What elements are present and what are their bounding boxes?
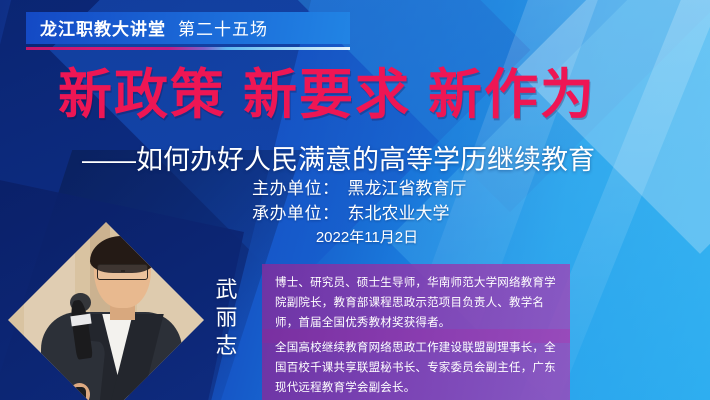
speaker-photo [8, 222, 204, 400]
event-date: 2022年11月2日 [252, 226, 482, 247]
background-facet-pale-right [516, 0, 710, 254]
page-subtitle: ——如何办好人民满意的高等学历继续教育 [82, 138, 595, 177]
organizer-row-undertaker: 承办单位：东北农业大学 [252, 201, 532, 226]
speaker-bio-box-2: 全国高校继续教育网络思政工作建设联盟副理事长，全国百校千课共享联盟秘书长、专家委… [262, 329, 570, 400]
organizer-row-host: 主办单位：黑龙江省教育厅 [252, 176, 532, 201]
header-banner-box: 龙江职教大讲堂 第二十五场 [26, 12, 350, 44]
organizer-value-host: 黑龙江省教育厅 [348, 179, 467, 198]
header-banner-rule [26, 47, 350, 50]
speaker-name-char-3: 志 [214, 332, 240, 360]
speaker-bio-text-2: 全国高校继续教育网络思政工作建设联盟副理事长，全国百校千课共享联盟秘书长、专家委… [275, 338, 557, 398]
presentation-clicker-icon [73, 387, 87, 400]
speaker-name: 武 丽 志 [214, 276, 240, 360]
organizer-block: 主办单位：黑龙江省教育厅 承办单位：东北农业大学 [252, 176, 532, 226]
speaker-name-char-2: 丽 [214, 304, 240, 332]
page-title: 新政策 新要求 新作为 [58, 68, 596, 122]
speaker-name-char-1: 武 [214, 276, 240, 304]
organizer-value-undertaker: 东北农业大学 [348, 204, 450, 223]
series-title: 龙江职教大讲堂 [40, 15, 166, 40]
organizer-label-host: 主办单位： [252, 179, 340, 198]
speaker-bio-text-1: 博士、研究员、硕士生导师，华南师范大学网络教育学院副院长，教育部课程思政示范项目… [275, 273, 557, 333]
header-banner: 龙江职教大讲堂 第二十五场 [26, 12, 350, 50]
photo-person [8, 222, 204, 400]
glasses-icon [97, 264, 148, 280]
poster-canvas: 龙江职教大讲堂 第二十五场 新政策 新要求 新作为 ——如何办好人民满意的高等学… [0, 0, 710, 400]
session-label: 第二十五场 [178, 15, 268, 40]
organizer-label-undertaker: 承办单位： [252, 204, 340, 223]
